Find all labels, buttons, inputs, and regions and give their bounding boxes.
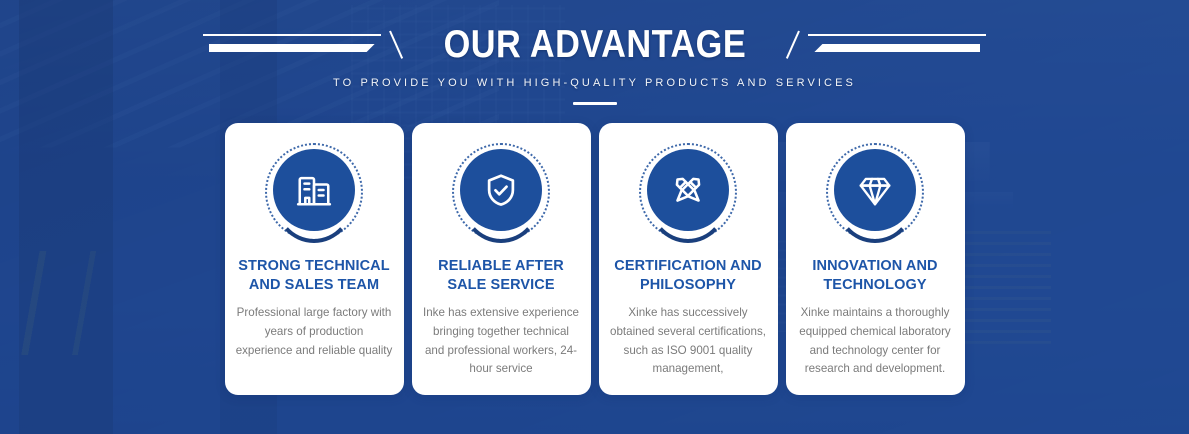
page-subtitle: TO PROVIDE YOU WITH HIGH-QUALITY PRODUCT… — [0, 77, 1189, 89]
diamond-gem-icon — [834, 149, 916, 231]
crossed-pens-icon — [647, 149, 729, 231]
left-decorative-lines — [195, 32, 403, 58]
office-building-icon — [273, 149, 355, 231]
advantage-card[interactable]: STRONG TECHNICAL AND SALES TEAM Professi… — [225, 123, 404, 395]
advantage-card-list: STRONG TECHNICAL AND SALES TEAM Professi… — [0, 123, 1189, 395]
card-description: Xinke has successively obtained several … — [609, 304, 768, 379]
icon-badge — [639, 143, 737, 241]
card-description: Xinke maintains a thoroughly equipped ch… — [796, 304, 955, 379]
advantage-card[interactable]: CERTIFICATION AND PHILOSOPHY Xinke has s… — [599, 123, 778, 395]
card-title: STRONG TECHNICAL AND SALES TEAM — [235, 257, 394, 294]
advantage-banner: »» »» OUR ADVANTAGE TO PROVIDE YOU WITH … — [0, 0, 1189, 434]
card-title: INNOVATION AND TECHNOLOGY — [796, 257, 955, 294]
card-description: Professional large factory with years of… — [235, 304, 394, 360]
card-description: Inke has extensive experience bringing t… — [422, 304, 581, 379]
banner-header: OUR ADVANTAGE TO PROVIDE YOU WITH HIGH-Q… — [0, 0, 1189, 105]
page-title: OUR ADVANTAGE — [426, 23, 764, 67]
icon-badge — [265, 143, 363, 241]
advantage-card[interactable]: RELIABLE AFTER SALE SERVICE Inke has ext… — [412, 123, 591, 395]
right-decorative-lines — [786, 32, 994, 58]
title-divider — [573, 102, 617, 105]
icon-badge — [452, 143, 550, 241]
shield-check-icon — [460, 149, 542, 231]
advantage-card[interactable]: INNOVATION AND TECHNOLOGY Xinke maintain… — [786, 123, 965, 395]
title-row: OUR ADVANTAGE — [0, 22, 1189, 68]
card-title: RELIABLE AFTER SALE SERVICE — [422, 257, 581, 294]
card-title: CERTIFICATION AND PHILOSOPHY — [609, 257, 768, 294]
icon-badge — [826, 143, 924, 241]
